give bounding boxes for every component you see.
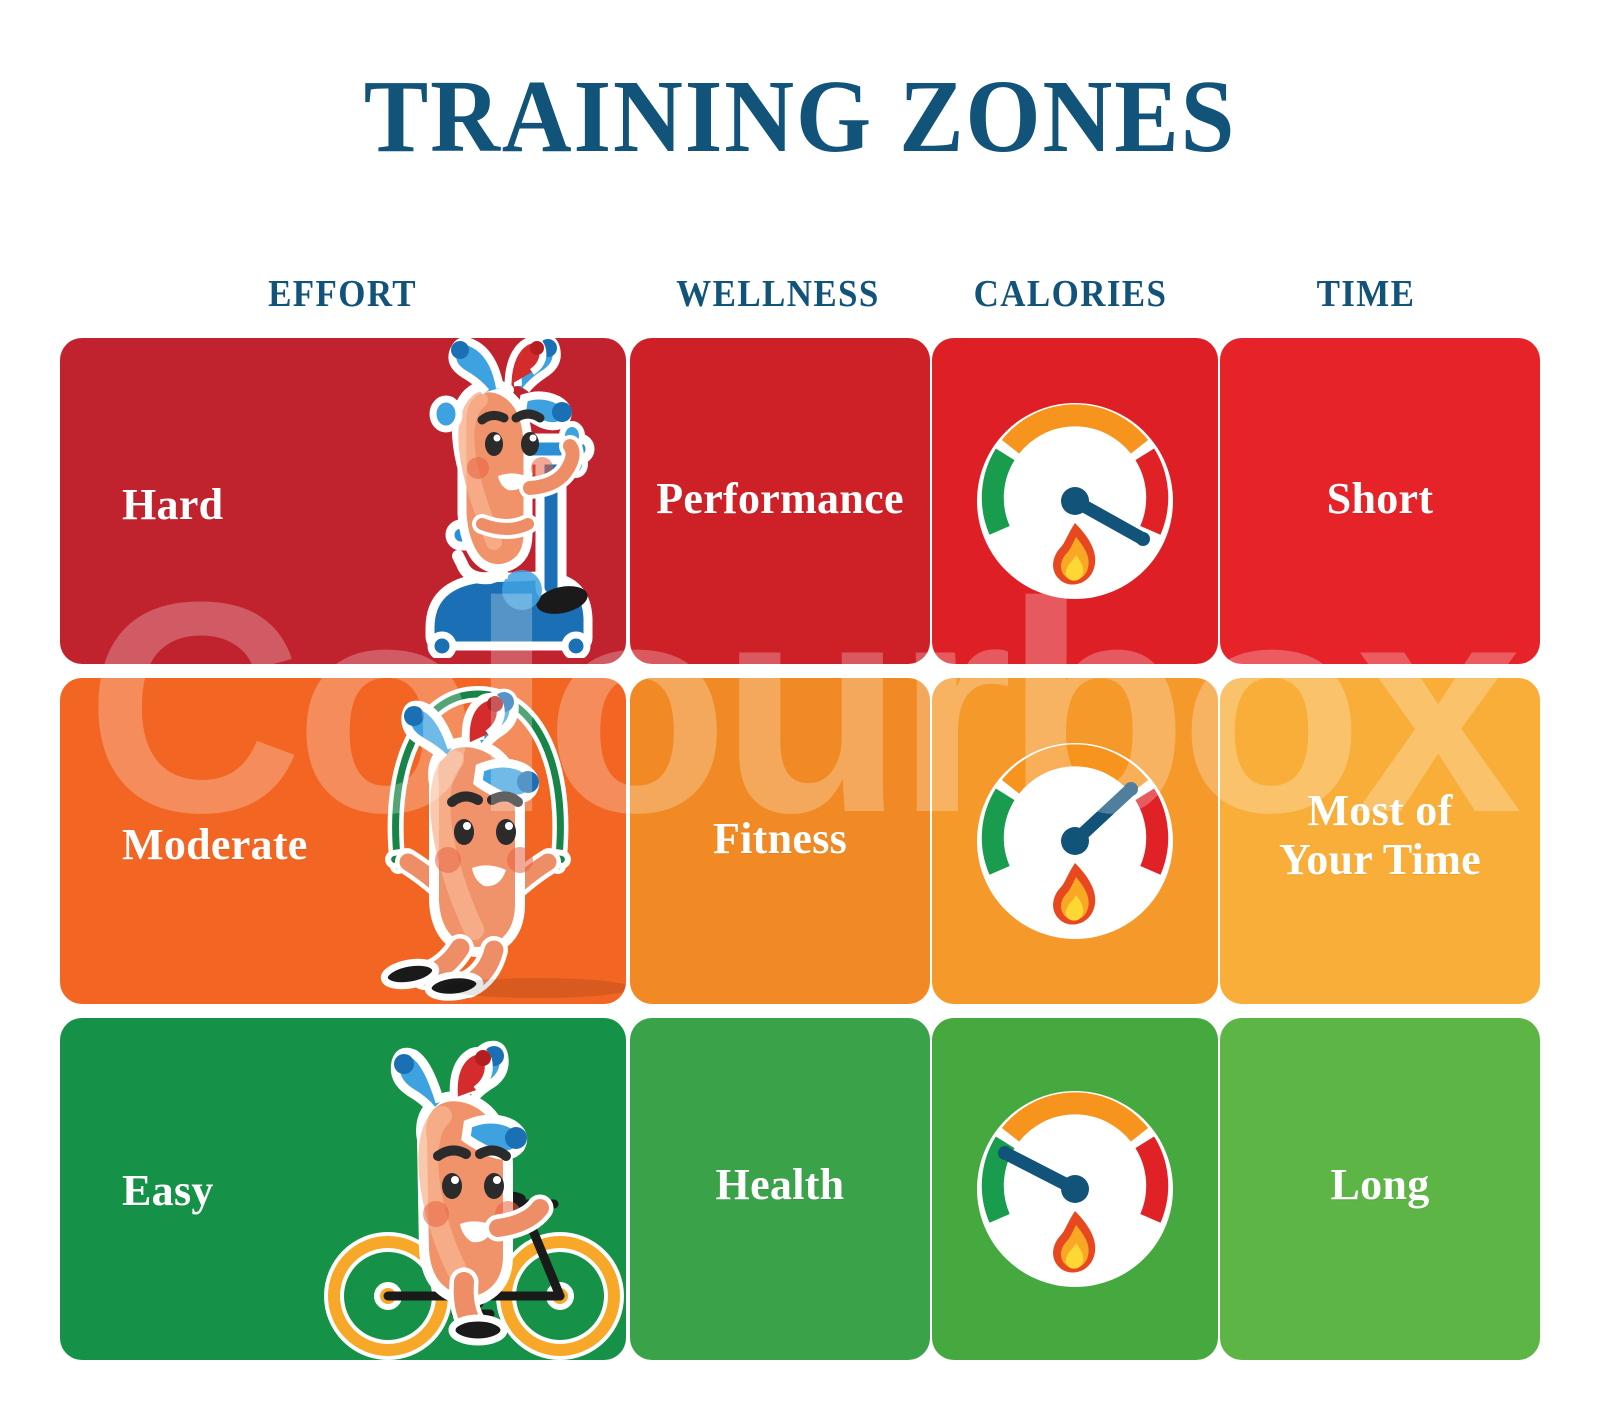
time-label-moderate: Most of Your Time [1220,786,1540,885]
column-header-calories: CALORIES [939,272,1201,316]
time-label-moderate-line2: Your Time [1220,835,1540,884]
time-label-moderate-line1: Most of [1220,786,1540,835]
zone-card-wellness-hard[interactable]: Performance [630,338,930,664]
wellness-label-moderate: Fitness [630,814,930,863]
zone-card-effort-hard[interactable]: Hard [60,338,626,664]
zone-card-time-hard[interactable]: Short [1220,338,1540,664]
time-label-hard: Short [1220,474,1540,523]
character-shadow [442,978,626,998]
infographic-root: TRAINING ZONES EFFORT WELLNESS CALORIES … [0,0,1600,1422]
heart-on-exercise-bike-icon [390,338,626,658]
effort-label-hard: Hard [60,480,223,529]
column-header-wellness: WELLNESS [640,272,916,316]
zone-card-calories-easy[interactable] [932,1018,1218,1360]
column-header-time: TIME [1228,272,1504,316]
zone-card-time-moderate[interactable]: Most of Your Time [1220,678,1540,1004]
heart-jumping-rope-icon [328,678,626,1004]
zone-card-calories-moderate[interactable] [932,678,1218,1004]
zone-card-time-easy[interactable]: Long [1220,1018,1540,1360]
wellness-label-easy: Health [630,1160,930,1209]
time-label-easy: Long [1220,1160,1540,1209]
column-header-effort: EFFORT [83,272,603,316]
page-title: TRAINING ZONES [56,62,1544,171]
effort-label-easy: Easy [60,1166,214,1215]
gauge-icon-easy [975,1089,1175,1289]
heart-on-bicycle-icon [322,1028,626,1360]
gauge-icon-moderate [975,741,1175,941]
effort-label-moderate: Moderate [60,820,308,869]
zone-card-effort-easy[interactable]: Easy [60,1018,626,1360]
zone-card-effort-moderate[interactable]: Moderate [60,678,626,1004]
zone-card-wellness-easy[interactable]: Health [630,1018,930,1360]
zone-card-calories-hard[interactable] [932,338,1218,664]
zone-card-wellness-moderate[interactable]: Fitness [630,678,930,1004]
gauge-icon-hard [975,401,1175,601]
zones-grid: Hard [60,338,1540,1360]
wellness-label-hard: Performance [630,474,930,523]
